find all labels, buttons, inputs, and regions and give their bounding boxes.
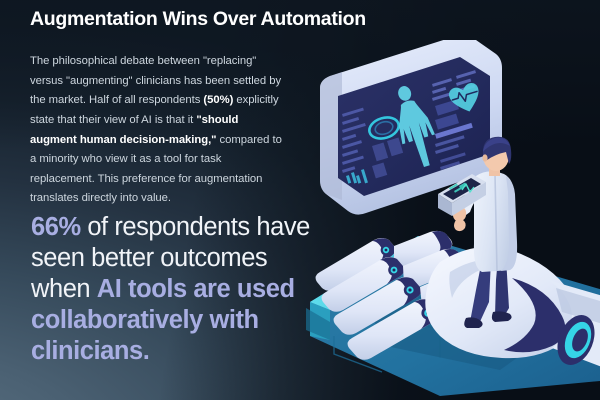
illustration-scene	[290, 40, 600, 400]
stat-fifty-percent: (50%)	[203, 94, 233, 106]
infographic-slide: Augmentation Wins Over Automation The ph…	[0, 0, 600, 400]
body-paragraph: The philosophical debate between "replac…	[30, 52, 284, 209]
text-column: Augmentation Wins Over Automation The ph…	[30, 0, 298, 400]
kicker-statement: 66% of respondents have seen better outc…	[31, 212, 321, 367]
stat-sixty-six-percent: 66%	[31, 213, 81, 241]
page-title: Augmentation Wins Over Automation	[30, 8, 360, 31]
